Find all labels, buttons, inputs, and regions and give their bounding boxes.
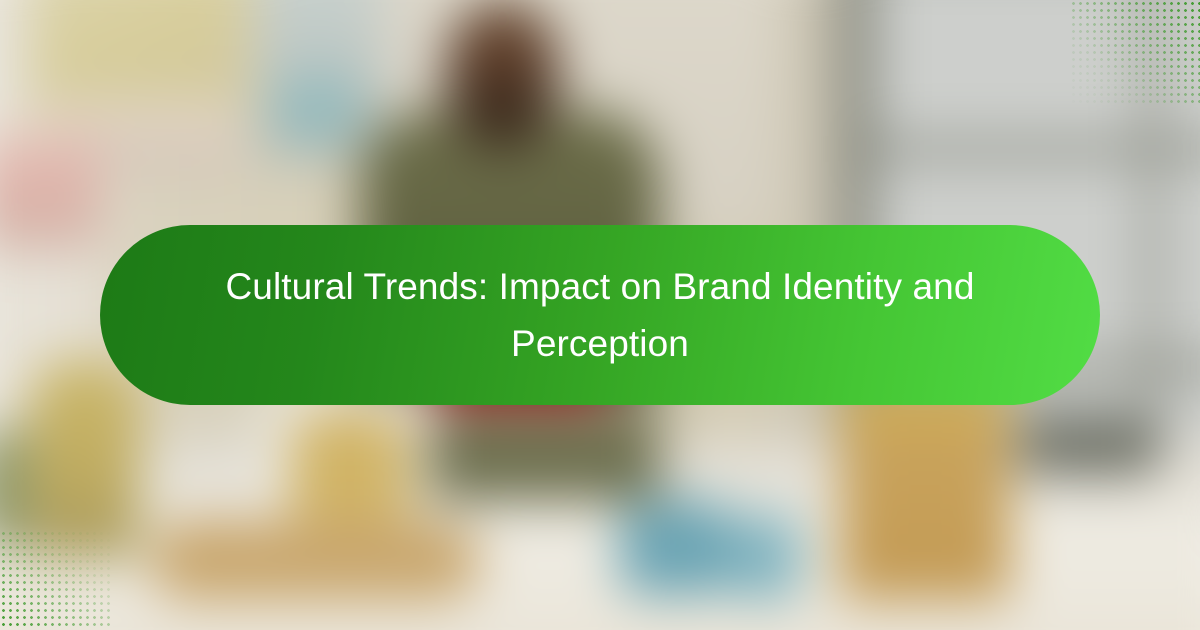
person-beard [455, 80, 550, 150]
window-pane [876, 0, 1144, 140]
window-pane [1160, 0, 1200, 140]
produce-bag [840, 380, 1010, 600]
dark-shelf [1020, 415, 1160, 475]
olive-tray [430, 415, 660, 500]
title-pill: Cultural Trends: Impact on Brand Identit… [100, 225, 1100, 405]
tan-foreground-object [150, 520, 480, 600]
social-share-banner: Cultural Trends: Impact on Brand Identit… [0, 0, 1200, 630]
teal-jar [620, 500, 730, 595]
notice-board-teal-note [275, 80, 360, 140]
window-mullion-horizontal [860, 140, 1200, 158]
page-title: Cultural Trends: Impact on Brand Identit… [170, 258, 1030, 373]
window-pane [1160, 158, 1200, 358]
bread-loaf [30, 360, 140, 560]
wall-poster-pink [0, 135, 100, 250]
teal-jar-small [730, 515, 800, 600]
